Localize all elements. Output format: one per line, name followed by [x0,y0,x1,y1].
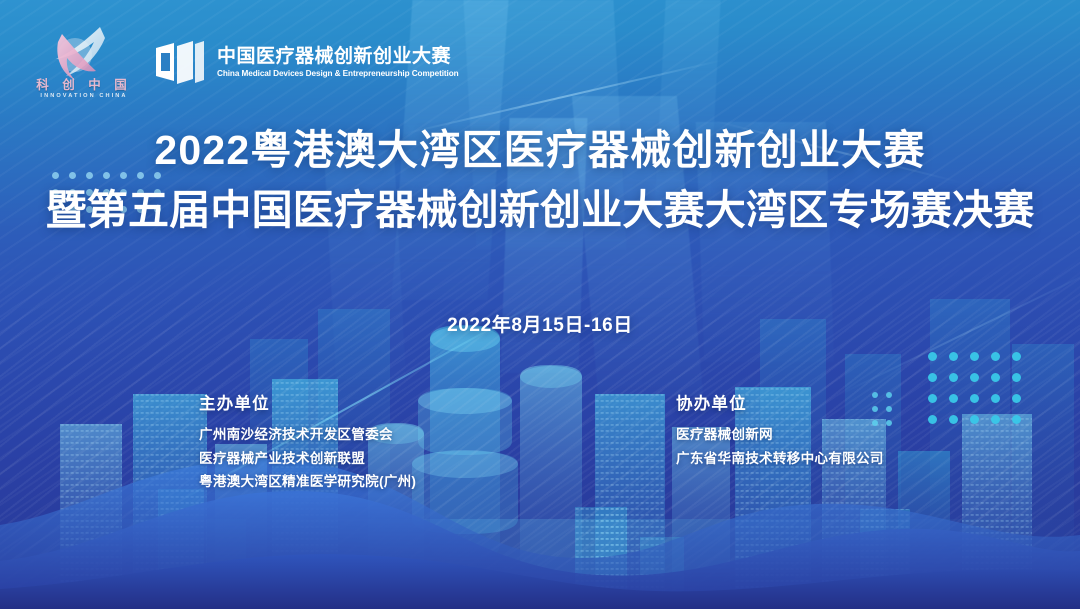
title-line-1: 2022粤港澳大湾区医疗器械创新创业大赛 [0,126,1080,175]
page-title: 2022粤港澳大湾区医疗器械创新创业大赛 暨第五届中国医疗器械创新创业大赛大湾区… [0,126,1080,236]
header-logos: 科 创 中 国 INNOVATION CHINA 中国医疗器械创新创业大赛 Ch… [36,24,461,100]
host-organiser-entry: 医疗器械产业技术创新联盟 [199,447,416,471]
cohost-organiser-entry: 医疗器械创新网 [676,423,884,447]
host-organiser-entry: 粤港澳大湾区精准医学研究院(广州) [199,470,416,494]
event-date: 2022年8月15日-16日 [0,310,1080,337]
innovation-china-logo: 科 创 中 国 INNOVATION CHINA [36,24,132,100]
cohost-organiser-entry: 广东省华南技术转移中心有限公司 [676,447,884,471]
cohost-organiser-title: 协办单位 [676,390,884,414]
poster-canvas: 科 创 中 国 INNOVATION CHINA 中国医疗器械创新创业大赛 Ch… [0,0,1080,609]
dot-grid-right [928,352,1033,436]
competition-en-title: China Medical Devices Design & Entrepren… [217,68,459,79]
innovation-china-en-label: INNOVATION CHINA [36,94,132,100]
innovation-china-cn-label: 科 创 中 国 [36,79,132,92]
competition-mark-icon [154,40,206,84]
title-line-2: 暨第五届中国医疗器械创新创业大赛大湾区专场赛决赛 [0,185,1080,236]
host-organiser-block: 主办单位 广州南沙经济技术开发区管委会 医疗器械产业技术创新联盟 粤港澳大湾区精… [199,390,416,494]
competition-logo: 中国医疗器械创新创业大赛 China Medical Devices Desig… [154,40,461,84]
host-organiser-entry: 广州南沙经济技术开发区管委会 [199,423,416,447]
competition-cn-title: 中国医疗器械创新创业大赛 [217,46,461,68]
wave-graphic [0,429,1080,609]
host-organiser-title: 主办单位 [199,390,416,414]
innovation-china-bird-icon [42,24,126,84]
cohost-organiser-block: 协办单位 医疗器械创新网 广东省华南技术转移中心有限公司 [676,390,884,470]
